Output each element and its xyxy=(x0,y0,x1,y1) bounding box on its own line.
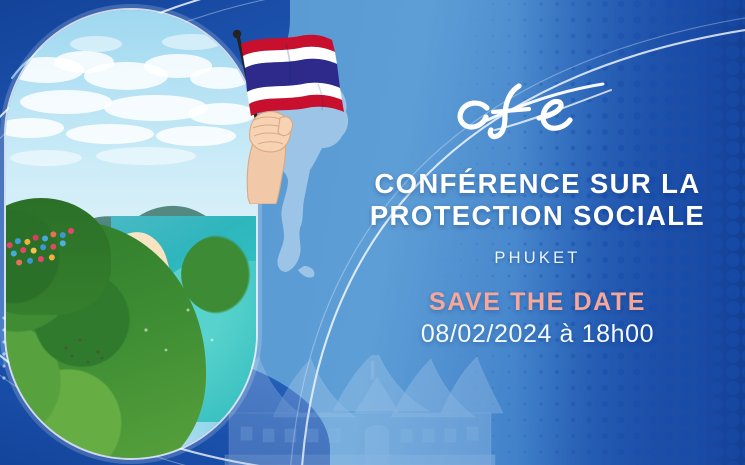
page-title: CONFÉRENCE SUR LA PROTECTION SOCIALE xyxy=(330,168,745,232)
save-the-date-label: SAVE THE DATE xyxy=(330,288,745,317)
hand-holding-thailand-flag xyxy=(196,14,346,204)
title-line-1: CONFÉRENCE SUR LA xyxy=(330,168,745,200)
event-date-time: 08/02/2024 à 18h00 xyxy=(330,320,745,349)
poster-content: CONFÉRENCE SUR LA PROTECTION SOCIALE PHU… xyxy=(330,0,745,465)
title-line-2: PROTECTION SOCIALE xyxy=(330,200,745,232)
save-the-date-poster: CONFÉRENCE SUR LA PROTECTION SOCIALE PHU… xyxy=(0,0,745,465)
cfe-script-logo xyxy=(443,78,633,140)
subtitle-city: PHUKET xyxy=(330,249,745,268)
thailand-flag xyxy=(241,35,344,116)
